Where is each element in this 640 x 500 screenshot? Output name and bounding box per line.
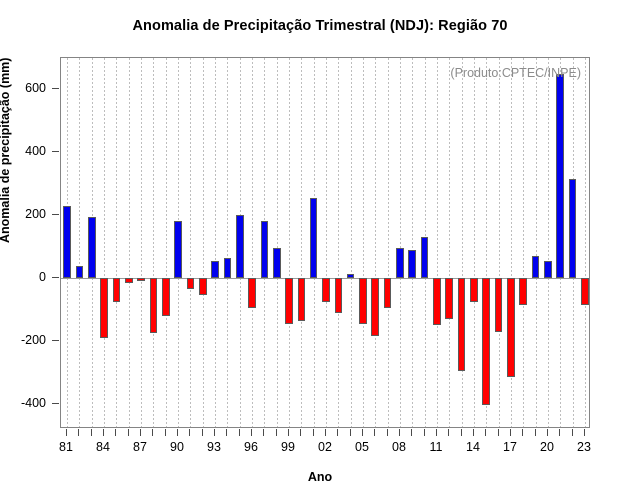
x-tick-label: 93: [207, 440, 221, 454]
x-tick: [115, 429, 116, 436]
x-tick: [448, 429, 449, 436]
x-tick: [436, 429, 437, 436]
x-tick-label: 17: [503, 440, 517, 454]
x-tick: [300, 429, 301, 436]
y-tick: [52, 151, 59, 152]
bar-14: [470, 278, 478, 302]
x-tick: [276, 429, 277, 436]
bar-91: [187, 278, 195, 289]
x-tick-label: 08: [392, 440, 406, 454]
x-tick: [313, 429, 314, 436]
x-tick: [559, 429, 560, 436]
bar-95: [236, 215, 244, 279]
bar-88: [150, 278, 158, 333]
x-tick-label: 23: [577, 440, 591, 454]
bar-20: [544, 261, 552, 278]
bar-90: [174, 221, 182, 278]
x-tick-label: 05: [355, 440, 369, 454]
bar-09: [408, 250, 416, 278]
x-tick-label: 84: [96, 440, 110, 454]
bar-series: [61, 58, 589, 427]
bar-85: [113, 278, 121, 302]
chart-title: Anomalia de Precipitação Trimestral (NDJ…: [0, 18, 640, 34]
bar-89: [162, 278, 170, 316]
x-tick: [177, 429, 178, 436]
x-tick: [424, 429, 425, 436]
annotation-credit: (Produto:CPTEC/INPE): [450, 66, 581, 80]
x-tick: [547, 429, 548, 436]
x-tick: [128, 429, 129, 436]
x-tick-label: 81: [59, 440, 73, 454]
x-tick: [226, 429, 227, 436]
x-tick: [251, 429, 252, 436]
x-tick-label: 20: [540, 440, 554, 454]
x-tick: [140, 429, 141, 436]
chart-root: Anomalia de Precipitação Trimestral (NDJ…: [0, 0, 640, 500]
bar-05: [359, 278, 367, 324]
x-tick: [214, 429, 215, 436]
y-tick-label: 0: [0, 270, 46, 284]
y-tick: [52, 403, 59, 404]
y-axis-title: Anomalia de precipitação (mm): [0, 58, 12, 243]
bar-84: [100, 278, 108, 338]
x-axis-title: Ano: [0, 470, 640, 484]
bar-00: [298, 278, 306, 320]
x-tick: [510, 429, 511, 436]
bar-03: [335, 278, 343, 313]
bar-86: [125, 278, 133, 283]
bar-99: [285, 278, 293, 324]
bar-13: [458, 278, 466, 371]
y-tick: [52, 277, 59, 278]
y-tick: [52, 340, 59, 341]
x-tick: [362, 429, 363, 436]
x-tick: [78, 429, 79, 436]
x-tick: [572, 429, 573, 436]
bar-15: [482, 278, 490, 405]
x-tick: [263, 429, 264, 436]
x-tick: [202, 429, 203, 436]
x-tick: [399, 429, 400, 436]
x-tick: [387, 429, 388, 436]
bar-19: [532, 256, 540, 278]
bar-10: [421, 237, 429, 278]
bar-01: [310, 198, 318, 278]
x-tick: [522, 429, 523, 436]
x-tick-label: 99: [281, 440, 295, 454]
x-tick: [288, 429, 289, 436]
plot-area: (Produto:CPTEC/INPE): [60, 57, 590, 428]
x-tick: [535, 429, 536, 436]
x-tick: [411, 429, 412, 436]
x-tick: [350, 429, 351, 436]
x-tick: [374, 429, 375, 436]
x-tick: [189, 429, 190, 436]
x-tick: [337, 429, 338, 436]
x-tick: [325, 429, 326, 436]
bar-23: [581, 278, 589, 305]
x-tick: [66, 429, 67, 436]
bar-82: [76, 266, 84, 279]
x-tick-label: 87: [133, 440, 147, 454]
bar-92: [199, 278, 207, 295]
x-tick: [498, 429, 499, 436]
x-tick: [103, 429, 104, 436]
bar-98: [273, 248, 281, 278]
bar-83: [88, 217, 96, 278]
x-tick-label: 02: [318, 440, 332, 454]
bar-07: [384, 278, 392, 308]
bar-21: [556, 74, 564, 278]
x-tick-label: 11: [430, 440, 443, 454]
x-tick-label: 90: [170, 440, 184, 454]
bar-04: [347, 274, 355, 278]
x-tick: [473, 429, 474, 436]
y-tick-label: -200: [0, 333, 46, 347]
bar-17: [507, 278, 515, 377]
y-tick: [52, 88, 59, 89]
bar-22: [569, 179, 577, 278]
bar-11: [433, 278, 441, 325]
bar-02: [322, 278, 330, 302]
x-tick: [165, 429, 166, 436]
y-tick-label: -400: [0, 396, 46, 410]
y-tick: [52, 214, 59, 215]
x-tick: [152, 429, 153, 436]
x-tick: [461, 429, 462, 436]
bar-06: [371, 278, 379, 336]
bar-97: [261, 221, 269, 278]
bar-12: [445, 278, 453, 319]
bar-16: [495, 278, 503, 331]
bar-93: [211, 261, 219, 278]
bar-18: [519, 278, 527, 305]
bar-87: [137, 278, 145, 281]
x-tick: [91, 429, 92, 436]
x-tick-label: 14: [466, 440, 480, 454]
x-tick: [239, 429, 240, 436]
bar-96: [248, 278, 256, 308]
bar-81: [63, 206, 71, 278]
x-tick: [485, 429, 486, 436]
bar-08: [396, 248, 404, 278]
x-tick: [584, 429, 585, 436]
x-tick-label: 96: [244, 440, 258, 454]
bar-94: [224, 258, 232, 278]
